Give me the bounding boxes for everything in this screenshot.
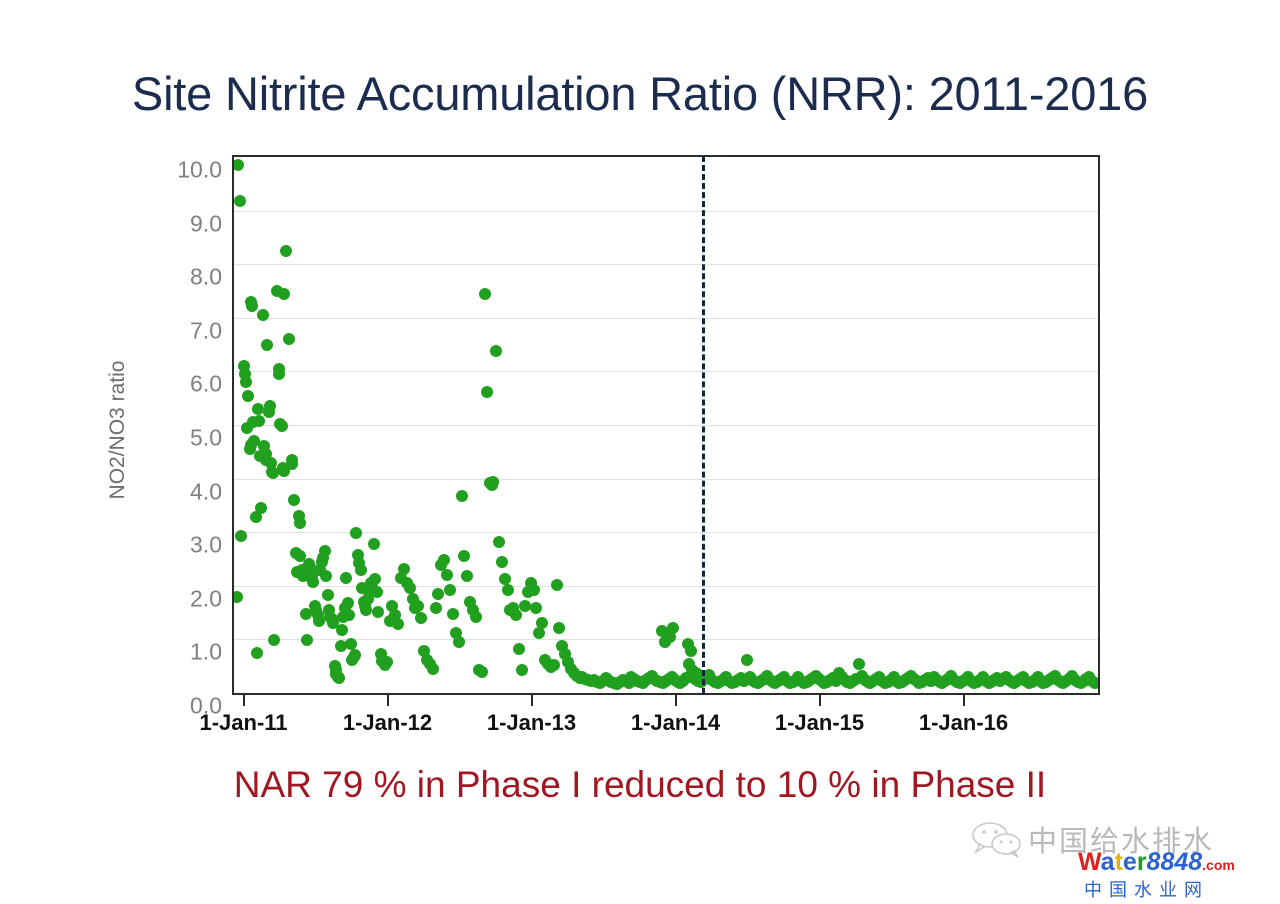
scatter-point bbox=[278, 288, 290, 300]
scatter-point bbox=[490, 345, 502, 357]
scatter-point bbox=[234, 591, 243, 603]
scatter-point bbox=[447, 608, 459, 620]
scatter-point bbox=[360, 604, 372, 616]
x-axis-tick-labels: 1-Jan-111-Jan-121-Jan-131-Jan-141-Jan-15… bbox=[232, 710, 1100, 744]
y-axis-tick-label: 8.0 bbox=[150, 264, 222, 291]
x-axis-tick-marks bbox=[232, 695, 1100, 707]
scatter-point bbox=[656, 625, 668, 637]
scatter-point bbox=[741, 654, 753, 666]
y-axis-tick-label: 9.0 bbox=[150, 210, 222, 237]
x-axis-tick-mark bbox=[963, 695, 965, 706]
scatter-point bbox=[853, 658, 865, 670]
scatter-point bbox=[659, 636, 671, 648]
scatter-point bbox=[479, 288, 491, 300]
scatter-point bbox=[510, 609, 522, 621]
scatter-point bbox=[355, 564, 367, 576]
y-axis-tick-label: 10.0 bbox=[150, 157, 222, 184]
y-axis-tick-label: 3.0 bbox=[150, 532, 222, 559]
scatter-point bbox=[343, 609, 355, 621]
scatter-point bbox=[342, 597, 354, 609]
brand-tld: .com bbox=[1202, 857, 1235, 873]
scatter-point bbox=[441, 569, 453, 581]
scatter-point bbox=[516, 664, 528, 676]
x-axis-tick-mark bbox=[243, 695, 245, 706]
x-axis-tick-label: 1-Jan-15 bbox=[775, 710, 864, 736]
scatter-point bbox=[261, 339, 273, 351]
scatter-point bbox=[415, 612, 427, 624]
watermark-brand: Water8848.com bbox=[1078, 850, 1235, 875]
scatter-point bbox=[369, 573, 381, 585]
brand-letter-w: W bbox=[1078, 848, 1101, 876]
scatter-point bbox=[372, 606, 384, 618]
y-axis-tick-labels: 10.09.08.07.06.05.04.03.02.01.00.0 bbox=[150, 155, 222, 695]
scatter-point bbox=[548, 659, 560, 671]
x-axis-tick-mark bbox=[675, 695, 677, 706]
scatter-point bbox=[276, 420, 288, 432]
scatter-point bbox=[257, 309, 269, 321]
x-axis-tick-label: 1-Jan-13 bbox=[487, 710, 576, 736]
scatter-point bbox=[530, 602, 542, 614]
x-axis-tick-mark bbox=[819, 695, 821, 706]
scatter-point bbox=[336, 624, 348, 636]
scatter-point bbox=[444, 584, 456, 596]
brand-letter-t: t bbox=[1115, 848, 1123, 876]
scatter-point bbox=[453, 636, 465, 648]
scatter-point bbox=[288, 494, 300, 506]
scatter-point bbox=[234, 195, 246, 207]
scatter-point bbox=[283, 333, 295, 345]
scatter-point bbox=[268, 634, 280, 646]
scatter-point bbox=[412, 600, 424, 612]
x-axis-tick-label: 1-Jan-16 bbox=[919, 710, 1008, 736]
watermark: 中国给水排水 Water8848.com 中国水业网 bbox=[966, 816, 1266, 896]
phase-divider-line bbox=[702, 156, 705, 694]
scatter-point bbox=[536, 617, 548, 629]
scatter-point bbox=[432, 588, 444, 600]
scatter-point bbox=[493, 536, 505, 548]
scatter-point bbox=[345, 638, 357, 650]
scatter-point bbox=[255, 502, 267, 514]
scatter-point bbox=[513, 643, 525, 655]
x-axis-tick-label: 1-Jan-14 bbox=[631, 710, 720, 736]
x-axis-tick-label: 1-Jan-11 bbox=[199, 710, 287, 736]
scatter-point bbox=[502, 584, 514, 596]
scatter-point bbox=[551, 579, 563, 591]
scatter-point bbox=[461, 570, 473, 582]
scatter-point bbox=[240, 376, 252, 388]
watermark-cn-bottom: 中国水业网 bbox=[1084, 876, 1209, 902]
y-axis-tick-label: 1.0 bbox=[150, 639, 222, 666]
brand-letter-e: e bbox=[1123, 848, 1137, 876]
scatter-point bbox=[368, 538, 380, 550]
scatter-point bbox=[251, 647, 263, 659]
y-axis-tick-label: 4.0 bbox=[150, 478, 222, 505]
scatter-point bbox=[319, 545, 331, 557]
scatter-point bbox=[381, 656, 393, 668]
scatter-point bbox=[307, 576, 319, 588]
scatter-point bbox=[242, 390, 254, 402]
y-axis-tick-label: 6.0 bbox=[150, 371, 222, 398]
scatter-point bbox=[553, 622, 565, 634]
wechat-icon bbox=[970, 822, 1024, 858]
scatter-point bbox=[685, 645, 697, 657]
brand-letter-r: r bbox=[1137, 848, 1147, 876]
scatter-point bbox=[286, 458, 298, 470]
scatter-point bbox=[333, 672, 345, 684]
scatter-point bbox=[253, 415, 265, 427]
y-axis-tick-label: 2.0 bbox=[150, 585, 222, 612]
x-axis-tick-mark bbox=[531, 695, 533, 706]
scatter-point bbox=[280, 245, 292, 257]
scatter-point bbox=[246, 300, 258, 312]
x-axis-tick-mark bbox=[387, 695, 389, 706]
scatter-point bbox=[528, 584, 540, 596]
scatter-point bbox=[470, 611, 482, 623]
scatter-point bbox=[313, 615, 325, 627]
scatter-point bbox=[235, 530, 247, 542]
scatter-point bbox=[320, 570, 332, 582]
x-axis-tick-label: 1-Jan-12 bbox=[343, 710, 432, 736]
chart-figure: NO2/NO3 ratio 10.09.08.07.06.05.04.03.02… bbox=[0, 140, 1280, 760]
scatter-point bbox=[340, 572, 352, 584]
scatter-point bbox=[1089, 677, 1098, 689]
y-axis-title: NO2/NO3 ratio bbox=[106, 320, 130, 540]
scatter-series-no2-no3-ratio bbox=[234, 157, 1098, 693]
scatter-point bbox=[371, 586, 383, 598]
plot-area bbox=[232, 155, 1100, 695]
scatter-point bbox=[301, 634, 313, 646]
scatter-point bbox=[458, 550, 470, 562]
scatter-point bbox=[487, 476, 499, 488]
scatter-point bbox=[234, 159, 244, 171]
scatter-point bbox=[427, 663, 439, 675]
scatter-point bbox=[350, 527, 362, 539]
chart-caption: NAR 79 % in Phase I reduced to 10 % in P… bbox=[0, 764, 1280, 806]
scatter-point bbox=[398, 563, 410, 575]
y-axis-tick-label: 5.0 bbox=[150, 425, 222, 452]
scatter-point bbox=[392, 618, 404, 630]
scatter-point bbox=[438, 554, 450, 566]
scatter-point bbox=[273, 368, 285, 380]
y-axis-tick-label: 7.0 bbox=[150, 317, 222, 344]
brand-letter-a: a bbox=[1101, 848, 1115, 876]
scatter-point bbox=[294, 517, 306, 529]
scatter-point bbox=[519, 600, 531, 612]
scatter-point bbox=[430, 602, 442, 614]
scatter-point bbox=[496, 556, 508, 568]
scatter-point bbox=[481, 386, 493, 398]
page-title: Site Nitrite Accumulation Ratio (NRR): 2… bbox=[0, 66, 1280, 121]
scatter-point bbox=[476, 666, 488, 678]
scatter-point bbox=[456, 490, 468, 502]
brand-number: 8848 bbox=[1147, 848, 1203, 876]
scatter-point bbox=[322, 589, 334, 601]
